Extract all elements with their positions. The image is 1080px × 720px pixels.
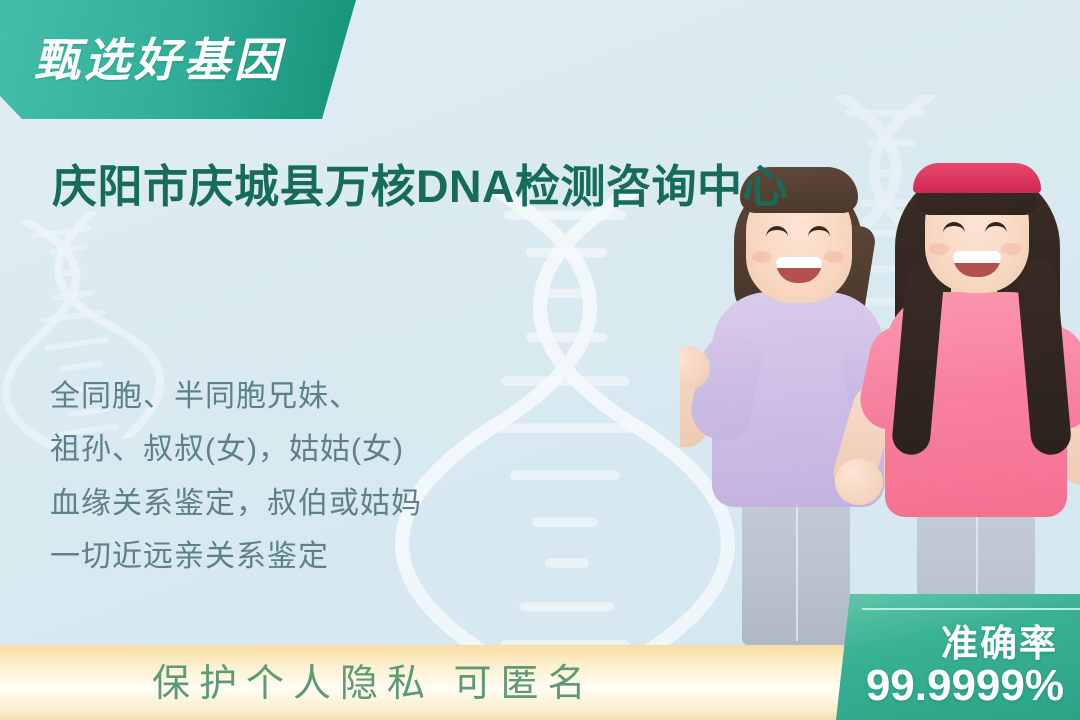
accuracy-badge-label: 准确率 xyxy=(941,613,1058,667)
girl-right-headband xyxy=(913,163,1041,193)
accuracy-badge-value: 99.9999% xyxy=(866,661,1064,711)
privacy-text: 保护个人隐私 可匿名 xyxy=(152,652,595,707)
service-line-2: 祖孙、叔叔(女)，姑姑(女) xyxy=(50,423,570,476)
girl-right-fist xyxy=(835,459,883,505)
girl-right-cheek-left xyxy=(929,243,949,255)
brand-logo-text: 甄选好基因 xyxy=(34,24,284,90)
girl-right-cheek-right xyxy=(1001,243,1021,255)
page-title: 庆阳市庆城县万核DNA检测咨询中心 xyxy=(52,158,822,217)
girl-left-cheek-left xyxy=(752,251,772,263)
girl-left-pants xyxy=(742,485,850,645)
girl-right-pink xyxy=(855,108,1080,645)
girl-left-cheek-right xyxy=(824,251,844,263)
service-line-3: 血缘关系鉴定，叔伯或姑妈 xyxy=(50,477,570,530)
service-line-4: 一切近远亲关系鉴定 xyxy=(50,530,570,583)
service-description: 全同胞、半同胞兄妹、 祖孙、叔叔(女)，姑姑(女) 血缘关系鉴定，叔伯或姑妈 一… xyxy=(50,370,570,584)
service-line-1: 全同胞、半同胞兄妹、 xyxy=(50,370,570,423)
promo-poster: 甄选好基因 庆阳市庆城县万核DNA检测咨询中心 全同胞、半同胞兄妹、 祖孙、叔叔… xyxy=(0,0,1080,720)
